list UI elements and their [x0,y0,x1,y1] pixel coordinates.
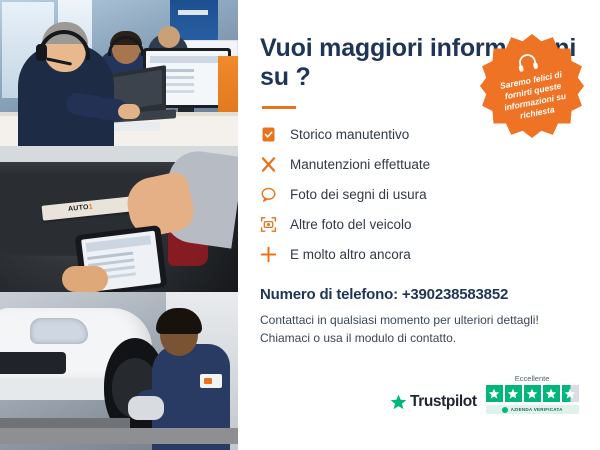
star-5 [562,385,579,402]
verified-badge: AZIENDA VERIFICATA [486,405,579,414]
inspector-hand-lower [62,266,108,292]
call-center-photo [0,0,238,146]
contact-line-1: Contattaci in qualsiasi momento per ulte… [260,311,578,330]
list-item-label: Storico manutentivo [290,127,409,142]
trustpilot-rating: Eccellente AZIENDA VERIFICATA [486,374,579,414]
wrench-cross-icon [260,156,277,173]
star-rating [486,385,579,402]
star-4 [543,385,560,402]
list-item: E molto altro ancora [260,240,578,270]
trustpilot-name: Trustpilot [410,393,477,411]
vehicle-inspection-photo: AUTO1 [0,146,238,292]
list-item-label: Altre foto del veicolo [290,217,412,232]
content-panel: Vuoi maggiori informazioni su ? Storico … [238,0,600,450]
list-item-label: Manutenzioni effettuate [290,157,430,172]
advertisement-card: AUTO1 Vuoi maggiori informazioni su ? [0,0,600,450]
speech-bubble-icon [260,186,277,203]
trustpilot-logo: Trustpilot [390,393,477,414]
feature-list: Storico manutentivo Manutenzioni effettu… [260,120,578,270]
list-item: Manutenzioni effettuate [260,150,578,180]
verified-check-icon [502,407,508,413]
list-item: Foto dei segni di usura [260,180,578,210]
plus-icon [260,246,277,263]
photo-frame-icon [260,216,277,233]
car-headlight [30,318,88,344]
photo-collage: AUTO1 [0,0,238,450]
trustpilot-widget[interactable]: Trustpilot Eccellente AZIENDA VERIFICATA [390,374,579,414]
workshop-floor [0,428,238,444]
garage-service-photo [0,292,238,450]
contact-line-2: Chiamaci o usa il modulo di contatto. [260,329,578,348]
rating-label: Eccellente [486,374,579,383]
clipboard-check-icon [260,126,277,143]
background-colleague-2-head [158,26,180,48]
title-divider [262,106,296,109]
phone-number[interactable]: Numero di telefono: +390238583852 [260,286,578,303]
lift-pad [0,418,130,428]
star-3 [524,385,541,402]
star-2 [505,385,522,402]
car-grille [0,352,66,374]
trustpilot-star-icon [390,394,407,411]
agent-hand [118,104,140,119]
uniform-logo-patch [200,374,222,388]
list-item-label: E molto altro ancora [290,247,411,262]
contact-instructions: Contattaci in qualsiasi momento per ulte… [260,311,578,348]
list-item: Altre foto del veicolo [260,210,578,240]
verified-label: AZIENDA VERIFICATA [511,407,563,412]
mechanic-glove [128,396,164,420]
headset-icon [515,51,540,75]
star-1 [486,385,503,402]
list-item-label: Foto dei segni di usura [290,187,427,202]
callout-badge: Saremo felici di fornirti queste informa… [480,34,584,138]
